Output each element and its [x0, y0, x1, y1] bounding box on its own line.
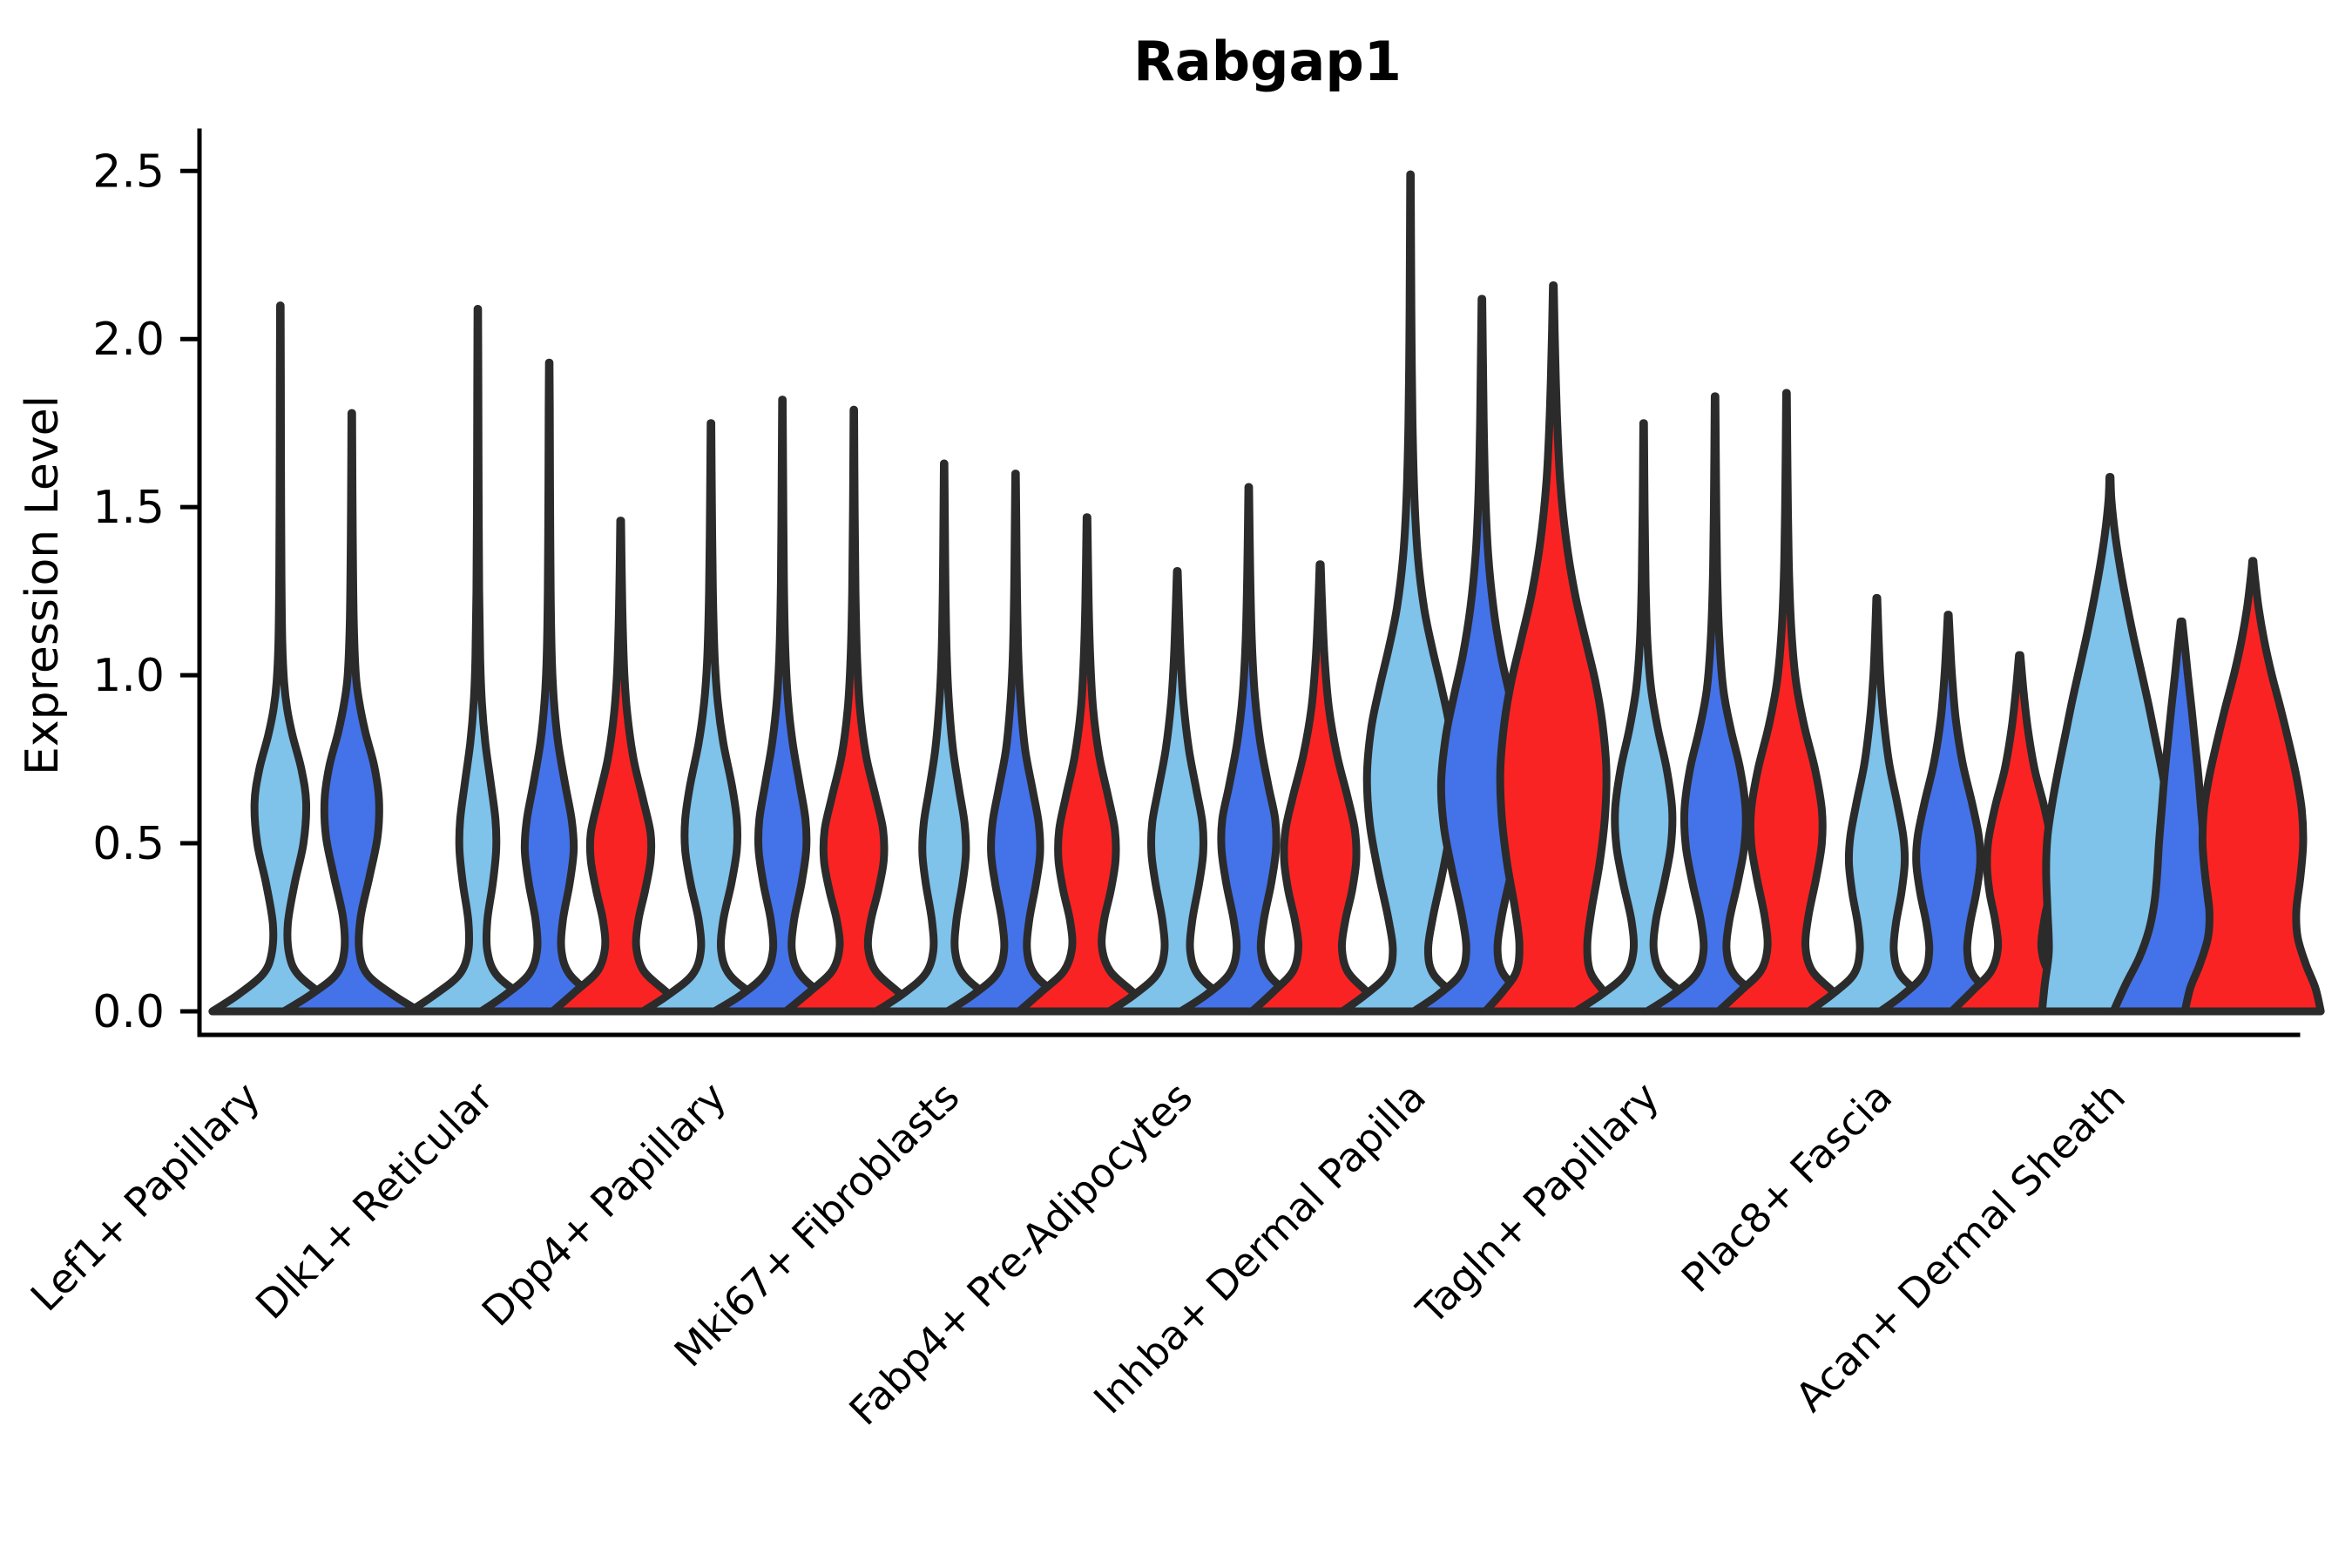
violin-plot-canvas: Rabgap1 Expression Level 0.00.51.01.52.0… — [0, 0, 2352, 1568]
chart-title: Rabgap1 — [1133, 30, 1402, 93]
y-axis-label: Expression Level — [17, 395, 69, 775]
y-tick-label: 2.5 — [92, 145, 165, 198]
y-tick-label: 1.5 — [92, 482, 165, 534]
y-tick-label: 1.0 — [92, 650, 165, 702]
violin-plot-figure: Rabgap1 Expression Level 0.00.51.01.52.0… — [0, 0, 2352, 1568]
y-tick-label: 2.0 — [92, 314, 165, 366]
y-tick-label: 0.5 — [92, 818, 165, 870]
y-tick-label: 0.0 — [92, 986, 165, 1038]
